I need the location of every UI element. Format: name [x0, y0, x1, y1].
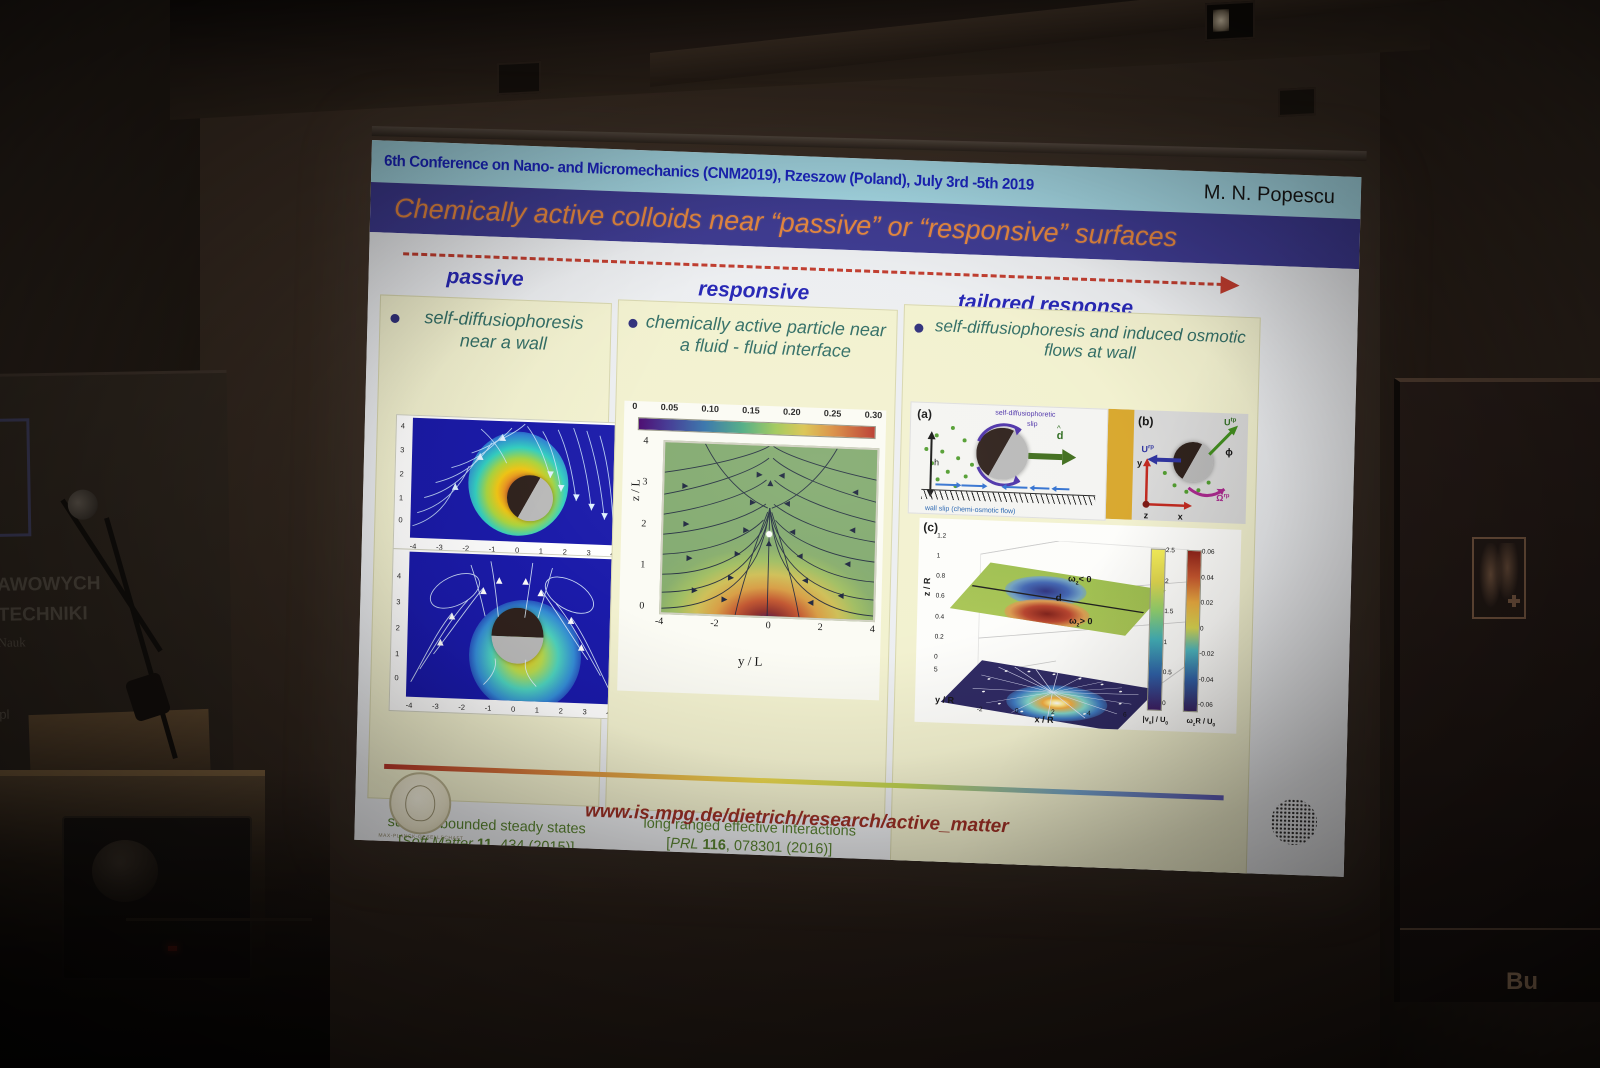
- u-tp-arrow-icon: [1207, 423, 1242, 458]
- y-tick: 4: [401, 421, 405, 430]
- colorbar-tick: 0.30: [865, 410, 883, 421]
- ceiling-light-icon: [1278, 87, 1316, 117]
- cb-tick: 0.04: [1201, 574, 1216, 582]
- bullet-text-passive: self-diffusiophoresis near a wall: [405, 306, 603, 357]
- y-tick: 0.4: [935, 613, 944, 620]
- colorbar: [638, 417, 876, 439]
- colorbar-velocity-label: |vs| / U0: [1142, 714, 1168, 726]
- slip-label-line1: self-diffusiophoretic: [995, 410, 1055, 419]
- cb-tick: 0.5: [1163, 669, 1172, 676]
- x-tick: 0: [1015, 707, 1019, 714]
- figure-wall-upright: 4 3 2 1 0 -4 -3 -2 -1 0 1 2: [389, 548, 618, 719]
- axis-z-label: z: [1144, 510, 1149, 520]
- mic-boom-arm: [60, 499, 162, 653]
- panels-a-b: (a) self-diffusiophoretic slip h d ^: [908, 401, 1249, 524]
- y-tick: 0: [394, 673, 398, 682]
- cb-tick: 2.5: [1166, 547, 1175, 554]
- right-banner-footer: Bu: [1400, 928, 1600, 1002]
- power-led-icon: [168, 946, 177, 951]
- cb-tick: 0: [1200, 625, 1215, 633]
- x-tick: -4: [406, 701, 413, 710]
- cross-icon: [1508, 595, 1520, 607]
- colorbar-vorticity-ticks: 0.06 0.04 0.02 0 -0.02 -0.04 -0.06: [1198, 548, 1217, 709]
- x-tick: 0: [766, 620, 771, 631]
- cb-tick: 1.5: [1164, 608, 1173, 615]
- halftone-sphere-logo-icon: [1270, 798, 1317, 846]
- cb-tick: 0.02: [1200, 599, 1215, 607]
- axis-y-label: y: [1137, 458, 1142, 468]
- x-tick: -3: [432, 702, 439, 711]
- bullet-row: chemically active particle near a fluid …: [618, 300, 897, 364]
- heatmap-canvas: [410, 418, 618, 546]
- figure-wall-tilted: 4 3 2 1 0 -4 -3 -2 -1 0 1 2: [393, 414, 621, 560]
- panel-c-y-ticks: 1.2 1 0.8 0.6 0.4 0.2 0: [934, 532, 946, 660]
- x-tick: -1: [485, 704, 492, 713]
- axis-triad-icon: [1136, 458, 1193, 514]
- colorbar-tick: 0.15: [742, 405, 760, 416]
- colorbar-tick: 0.10: [701, 404, 719, 415]
- presentation-slide: 6th Conference on Nano- and Micromechani…: [354, 140, 1361, 877]
- omega-positive-annotation: ωz> 0: [1069, 615, 1093, 629]
- x-tick: -2: [710, 618, 719, 629]
- y-axis-ticks: 4 3 2 1 0: [639, 435, 648, 611]
- right-institutional-banner: Bu: [1394, 378, 1600, 1002]
- colorbar-tick: 0.20: [783, 407, 801, 418]
- university-monogram-icon: [1472, 537, 1526, 619]
- height-axis-icon: [925, 431, 937, 497]
- y-tick: 1.2: [937, 532, 946, 539]
- microphone-icon: [62, 484, 103, 525]
- cb-tick: 0: [1162, 700, 1171, 707]
- column-passive: self-diffusiophoresis near a wall: [367, 294, 612, 807]
- y-tick: 0: [934, 653, 943, 660]
- arrow-head-icon: [1220, 276, 1239, 295]
- bullet-row: self-diffusiophoresis and induced osmoti…: [904, 305, 1260, 369]
- x-tick: 2: [818, 622, 823, 633]
- column-responsive: chemically active particle near a fluid …: [605, 299, 898, 819]
- banner-line-4: .pan.pl: [0, 707, 10, 723]
- y-tick: 3: [400, 445, 404, 454]
- x-tick: -2: [458, 703, 465, 712]
- depth-tick: 5: [934, 666, 938, 673]
- bullet-text-responsive: chemically active particle near a fluid …: [643, 311, 889, 363]
- axis-x-label: x: [1178, 511, 1183, 521]
- colorbar-tick: 0.05: [661, 402, 679, 413]
- omega-negative-annotation: ωz< 0: [1068, 573, 1092, 587]
- y-axis-label: z / L: [628, 479, 644, 502]
- y-tick: 4: [397, 571, 401, 580]
- y-tick: 0: [398, 515, 402, 524]
- panel-c-label: (c): [923, 520, 938, 535]
- projection-screen: 6th Conference on Nano- and Micromechani…: [354, 140, 1361, 877]
- director-label-c: d: [1055, 593, 1061, 604]
- cb-tick: 1: [1163, 639, 1172, 646]
- av-device-panel: [62, 816, 252, 980]
- wall-slip-note: wall slip (chemi-osmotic flow): [925, 505, 1016, 515]
- bullet-text-tailored: self-diffusiophoresis and induced osmoti…: [929, 316, 1252, 369]
- panel-b: (b) Utp Urp ϕ Ωr: [1106, 409, 1249, 524]
- streamline-overlay: [406, 552, 614, 701]
- panel-b-label: (b): [1138, 414, 1154, 429]
- column-heading-responsive: responsive: [698, 277, 809, 305]
- x-tick: -2: [977, 706, 983, 713]
- cb-tick: -0.06: [1198, 701, 1213, 709]
- panel-c: (c): [914, 518, 1241, 734]
- x-tick: -4: [655, 616, 664, 627]
- bullet-dot-icon: [628, 319, 637, 328]
- y-tick: 4: [643, 435, 648, 446]
- y-tick: 0.8: [936, 573, 945, 580]
- cb-tick: -0.02: [1199, 650, 1214, 658]
- y-tick: 1: [640, 559, 645, 570]
- y-tick: 2: [641, 518, 646, 529]
- y-tick: 2: [396, 623, 400, 632]
- x-tick: 0: [511, 705, 515, 714]
- panel-a-label: (a): [917, 407, 932, 422]
- ippt-logo-icon: [0, 418, 31, 537]
- ceiling-light-icon: [497, 61, 541, 95]
- y-tick: 0.2: [935, 633, 944, 640]
- panel-c-depth-label: y / R: [935, 694, 954, 705]
- streamplot-axes: [659, 440, 879, 622]
- bullet-row: self-diffusiophoresis near a wall: [380, 295, 611, 357]
- cb-tick: -0.04: [1199, 676, 1214, 684]
- panel-c-y-label: z / R: [922, 577, 932, 596]
- y-tick: 1: [395, 649, 399, 658]
- cb-tick: 0.06: [1202, 548, 1217, 556]
- x-tick: 6: [1123, 712, 1127, 719]
- director-hat-icon: ^: [1057, 424, 1061, 433]
- colorbar-tick: 0: [632, 401, 637, 411]
- device-reel-icon: [92, 840, 158, 902]
- figure-interface-streamplot: 0 0.05 0.10 0.15 0.20 0.25 0.30: [617, 401, 886, 701]
- x-tick: 2: [559, 706, 563, 715]
- right-banner-footer-text: Bu: [1506, 968, 1538, 996]
- slide-body: passive responsive tailored response sel…: [354, 232, 1359, 877]
- x-tick: 4: [1087, 710, 1091, 717]
- y-tick: 3: [396, 597, 400, 606]
- colorbar-tick: 0.25: [824, 408, 842, 419]
- x-tick: 4: [870, 624, 875, 635]
- x-axis-label: y / L: [738, 653, 763, 670]
- director-arrow-icon: [1028, 447, 1076, 467]
- x-tick: 3: [582, 707, 586, 716]
- y-tick: 2: [399, 469, 403, 478]
- column-heading-passive: passive: [446, 265, 524, 292]
- y-tick: 0.6: [936, 593, 945, 600]
- bullet-dot-icon: [390, 314, 399, 323]
- heatmap-canvas: [406, 552, 615, 705]
- streamline-overlay: [410, 418, 618, 540]
- panel-b-stripe: [1106, 409, 1135, 520]
- panel-c-x-label: x / R: [1034, 714, 1053, 725]
- panel-a: (a) self-diffusiophoretic slip h d ^: [908, 401, 1109, 520]
- microphone-stand: [42, 478, 232, 778]
- cb-tick: 2: [1165, 578, 1174, 585]
- mic-pole: [104, 517, 178, 759]
- y-tick: 1: [937, 553, 946, 560]
- wall-hatching-icon: [921, 489, 1095, 506]
- y-tick: 0: [639, 600, 644, 611]
- banner-line-3: emii Nauk: [0, 634, 26, 651]
- av-equipment-table: [0, 770, 265, 1068]
- y-tick: 1: [399, 493, 403, 502]
- colorbar-vorticity-label: ωzR / U0: [1186, 716, 1215, 729]
- device-seam: [126, 918, 312, 921]
- x-tick: 1: [535, 705, 539, 714]
- ceiling-light-icon: [1205, 1, 1255, 42]
- bullet-dot-icon: [914, 323, 923, 332]
- conference-room-photo: 6th Conference on Nano- and Micromechani…: [0, 0, 1600, 1068]
- author-name: M. N. Popescu: [1203, 181, 1361, 210]
